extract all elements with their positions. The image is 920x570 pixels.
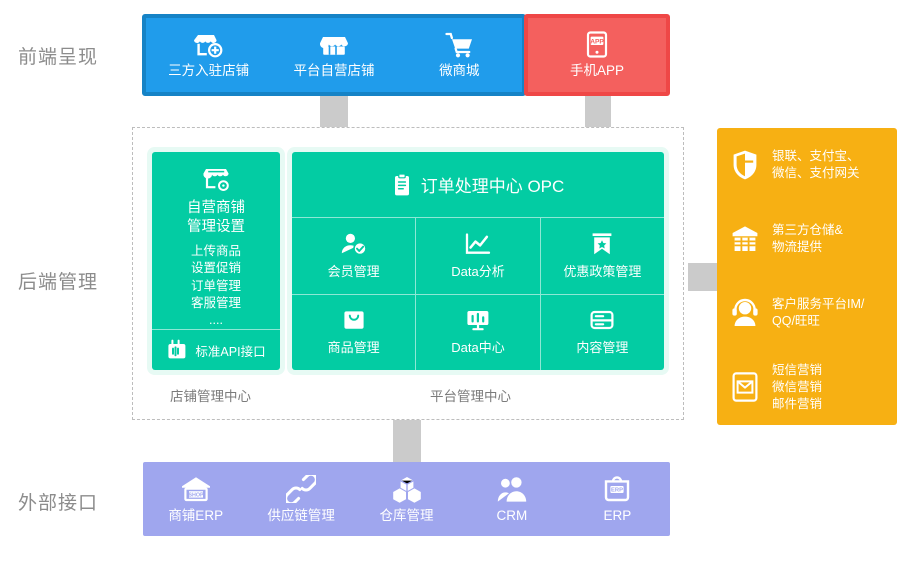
shop-panel-list-item: 上传商品 xyxy=(191,243,241,260)
boxes-icon xyxy=(391,475,423,503)
tile-mobile-app[interactable]: APP 手机APP xyxy=(528,31,666,79)
tile-label: CRM xyxy=(497,509,528,524)
tile-erp[interactable]: ERP ERP xyxy=(565,475,670,524)
shop-panel-title-line1: 自营商铺 xyxy=(187,199,245,218)
tile-crm[interactable]: CRM xyxy=(459,475,564,524)
chain-link-icon xyxy=(286,475,316,503)
monitor-bar-icon xyxy=(465,308,491,332)
order-processing-center-header[interactable]: 订单处理中心 OPC xyxy=(292,152,664,218)
shop-panel-title-line2: 管理设置 xyxy=(187,218,245,237)
mobile-app-icon: APP xyxy=(584,31,610,59)
tile-label: 商铺ERP xyxy=(168,509,223,524)
cell-label: 商品管理 xyxy=(328,337,380,356)
cell-member-management[interactable]: 会员管理 xyxy=(292,218,416,294)
tile-warehouse-management[interactable]: 仓库管理 xyxy=(354,475,459,524)
caption-shop-center: 店铺管理中心 xyxy=(170,385,251,405)
service-payment-gateways[interactable]: 银联、支付宝、 微信、支付网关 xyxy=(717,128,897,202)
tile-label: 仓库管理 xyxy=(380,509,434,524)
tile-label: 平台自营店铺 xyxy=(293,64,374,79)
svg-text:ERP: ERP xyxy=(611,487,623,493)
envelope-marketing-icon xyxy=(731,371,759,403)
people-icon xyxy=(497,475,527,503)
platform-management-panel: 订单处理中心 OPC 会员管理 xyxy=(292,152,664,370)
cell-promotion-policy-management[interactable]: 优惠政策管理 xyxy=(541,218,664,294)
order-processing-center-label: 订单处理中心 OPC xyxy=(421,172,565,197)
api-plug-icon xyxy=(166,339,188,361)
tile-supply-chain[interactable]: 供应链管理 xyxy=(248,475,353,524)
cell-label: Data分析 xyxy=(451,261,504,280)
third-party-services-panel: 银联、支付宝、 微信、支付网关 第三方仓储& 物流提供 xyxy=(717,128,897,425)
service-marketing-channels[interactable]: 短信营销 微信营销 邮件营销 xyxy=(717,350,897,424)
shop-erp-icon: SHOP xyxy=(180,475,212,503)
tile-third-party-shop[interactable]: 三方入驻店铺 xyxy=(146,31,271,79)
cell-product-management[interactable]: 商品管理 xyxy=(292,295,416,371)
cell-content-management[interactable]: 内容管理 xyxy=(541,295,664,371)
tier-label-backend: 后端管理 xyxy=(18,267,98,294)
tile-self-operated-shop[interactable]: 平台自营店铺 xyxy=(271,31,396,79)
shop-add-icon xyxy=(194,31,224,59)
cell-data-analysis[interactable]: Data分析 xyxy=(416,218,540,294)
standard-api-row[interactable]: 标准API接口 xyxy=(152,329,280,370)
svg-text:SHOP: SHOP xyxy=(188,492,204,498)
tile-label: 三方入驻店铺 xyxy=(168,64,249,79)
cell-label: 内容管理 xyxy=(576,337,628,356)
service-label: 客户服务平台IM/ QQ/旺旺 xyxy=(772,296,864,330)
api-label: 标准API接口 xyxy=(195,341,265,360)
erp-box-icon: ERP xyxy=(602,475,632,503)
shop-management-panel: 自营商铺 管理设置 上传商品 设置促销 订单管理 客服管理 .... 标准AP xyxy=(152,152,280,370)
shopping-bag-icon xyxy=(342,308,366,332)
external-systems-panel: SHOP 商铺ERP 供应链管理 xyxy=(143,462,670,536)
store-settings-icon xyxy=(200,166,232,194)
tile-label: 手机APP xyxy=(570,64,624,79)
service-label: 短信营销 微信营销 邮件营销 xyxy=(772,362,822,413)
cell-label: 优惠政策管理 xyxy=(563,261,641,280)
svg-text:APP: APP xyxy=(590,38,604,45)
frontend-web-group: 三方入驻店铺 平台自营店铺 xyxy=(142,14,526,96)
tile-label: ERP xyxy=(603,509,631,524)
cell-label: Data中心 xyxy=(451,337,504,356)
tile-label: 微商城 xyxy=(439,64,480,79)
shop-panel-list-item: 设置促销 xyxy=(191,260,241,277)
caption-platform-center: 平台管理中心 xyxy=(430,385,511,405)
tier-label-frontend: 前端呈现 xyxy=(18,42,98,69)
content-tray-icon xyxy=(589,308,615,332)
shop-panel-list-item: .... xyxy=(191,312,241,329)
cell-data-center[interactable]: Data中心 xyxy=(416,295,540,371)
cell-label: 会员管理 xyxy=(328,261,380,280)
tile-label: 供应链管理 xyxy=(267,509,335,524)
tier-label-external: 外部接口 xyxy=(18,488,98,515)
shopping-cart-icon xyxy=(444,31,474,59)
bookmark-star-icon xyxy=(590,232,614,256)
connector-app-to-backend xyxy=(585,94,611,128)
connector-backend-to-external xyxy=(393,419,421,463)
service-label: 第三方仓储& 物流提供 xyxy=(772,222,843,256)
shield-icon xyxy=(731,149,759,181)
service-label: 银联、支付宝、 微信、支付网关 xyxy=(772,148,860,182)
warehouse-icon xyxy=(731,224,759,254)
storefront-icon xyxy=(319,31,349,59)
headset-support-icon xyxy=(731,298,759,328)
architecture-diagram: 前端呈现 后端管理 外部接口 店铺管理中心 平台管理中心 三方入驻店铺 xyxy=(0,0,920,570)
line-chart-icon xyxy=(464,232,492,256)
shop-panel-list-item: 客服管理 xyxy=(191,295,241,312)
service-customer-support[interactable]: 客户服务平台IM/ QQ/旺旺 xyxy=(717,276,897,350)
tile-wechat-mall[interactable]: 微商城 xyxy=(397,31,522,79)
shop-panel-list-item: 订单管理 xyxy=(191,278,241,295)
tile-shop-erp[interactable]: SHOP 商铺ERP xyxy=(143,475,248,524)
frontend-app-group: APP 手机APP xyxy=(524,14,670,96)
member-check-icon xyxy=(340,232,368,256)
service-warehouse-logistics[interactable]: 第三方仓储& 物流提供 xyxy=(717,202,897,276)
connector-web-to-backend xyxy=(320,94,348,128)
clipboard-icon xyxy=(392,173,412,197)
